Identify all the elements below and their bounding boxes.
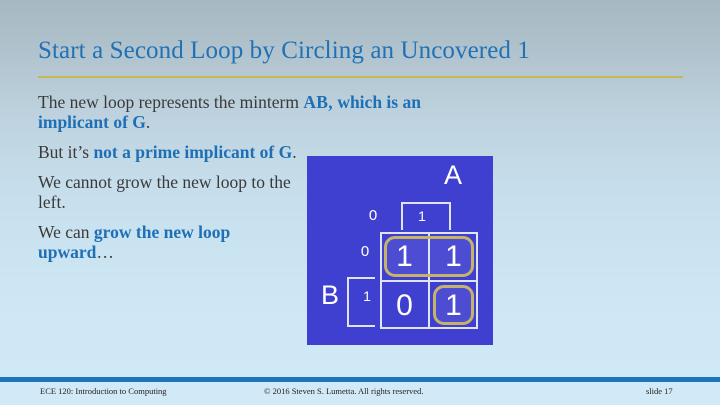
kmap-cell-a0b1: 0	[380, 281, 429, 330]
kmap-loop-second-ab	[433, 285, 474, 325]
karnaugh-map-figure: A 0 1 B 0 1 1 1 0 1	[307, 156, 493, 345]
paragraph-grow-upward: We can grow the new loop upward…	[38, 222, 303, 262]
para4-run-2: …	[96, 242, 114, 262]
kmap-column-header-0: 0	[363, 208, 383, 223]
footer-course-name: ECE 120: Introduction to Computing	[40, 386, 167, 396]
kmap-row-header-0: 0	[355, 244, 375, 259]
paragraph-cannot-grow-left: We cannot grow the new loop to the left.	[38, 172, 303, 212]
kmap-loop-first	[384, 236, 474, 277]
para4-run-0: We can	[38, 222, 94, 242]
kmap-column-header-1: 1	[412, 209, 432, 223]
kmap-b-bracket-bottom	[347, 325, 375, 327]
kmap-variable-label-b: B	[315, 282, 345, 309]
para3-run-0: We cannot grow the new loop to the left.	[38, 172, 291, 212]
paragraph-not-prime: But it’s not a prime implicant of G.	[38, 142, 303, 162]
footer-copyright: © 2016 Steven S. Lumetta. All rights res…	[264, 386, 423, 396]
para1-minterm-ab: AB,	[303, 92, 333, 112]
kmap-a-bracket-left	[401, 202, 403, 230]
para2-run-2: .	[292, 142, 296, 162]
kmap-variable-label-a: A	[439, 162, 467, 189]
kmap-row-header-1: 1	[359, 289, 375, 303]
paragraph-minterm: The new loop represents the minterm AB, …	[38, 92, 478, 132]
kmap-b-bracket-top	[347, 277, 375, 279]
para2-emphasis-not-prime: not a prime implicant of G	[93, 142, 292, 162]
page-title: Start a Second Loop by Circling an Uncov…	[38, 36, 688, 66]
para1-run-4: .	[146, 112, 150, 132]
footer-slide-number: slide 17	[646, 386, 673, 396]
kmap-a-bracket-right	[449, 202, 451, 230]
para1-run-0: The new loop represents the minterm	[38, 92, 303, 112]
body-text-column: The new loop represents the minterm AB, …	[38, 92, 303, 262]
kmap-a-bracket-top	[401, 202, 451, 204]
kmap-b-bracket-left	[347, 277, 349, 327]
title-underline-rule	[38, 76, 683, 78]
para2-run-0: But it’s	[38, 142, 93, 162]
